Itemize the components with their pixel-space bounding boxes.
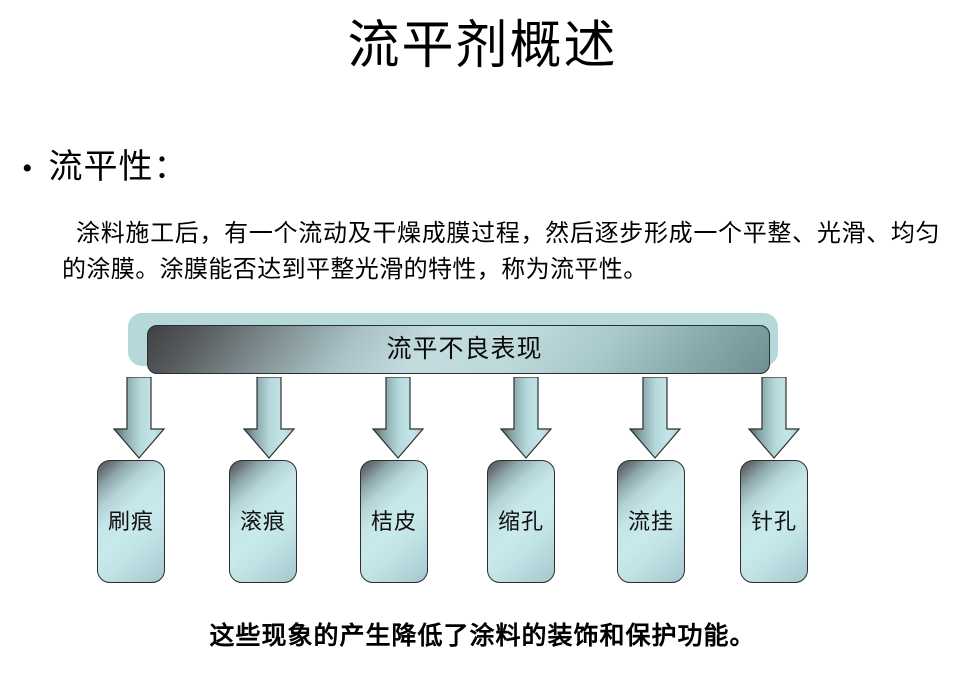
node-label-6: 针孔 — [751, 509, 797, 535]
node-box-4[interactable]: 缩孔 — [487, 460, 555, 583]
banner-box[interactable]: 流平不良表现 — [147, 325, 770, 374]
arrow-down-icon-1 — [113, 377, 165, 459]
node-label-3: 桔皮 — [371, 509, 417, 535]
node-box-2[interactable]: 滚痕 — [229, 460, 297, 583]
bullet-dot-icon: • — [22, 147, 33, 191]
arrow-down-icon-2 — [243, 377, 295, 459]
arrow-down-icon-6 — [748, 377, 800, 459]
arrow-down-icon-3 — [372, 377, 424, 459]
node-label-5: 流挂 — [628, 509, 674, 535]
node-box-5[interactable]: 流挂 — [617, 460, 685, 583]
node-label-1: 刷痕 — [108, 509, 154, 535]
node-box-6[interactable]: 针孔 — [740, 460, 808, 583]
arrow-down-icon-5 — [629, 377, 681, 459]
footer-note: 这些现象的产生降低了涂料的装饰和保护功能。 — [0, 620, 965, 654]
body-paragraph: 涂料施工后，有一个流动及干燥成膜过程，然后逐步形成一个平整、光滑、均匀的涂膜。涂… — [62, 216, 940, 288]
banner-label: 流平不良表现 — [386, 335, 542, 365]
page-title: 流平剂概述 — [0, 16, 965, 78]
node-box-1[interactable]: 刷痕 — [97, 460, 165, 583]
node-box-3[interactable]: 桔皮 — [360, 460, 428, 583]
bullet-heading-label: 流平性： — [49, 146, 189, 190]
flow-diagram: 流平不良表现 — [0, 0, 965, 699]
arrow-down-icon-4 — [500, 377, 552, 459]
node-label-2: 滚痕 — [240, 509, 286, 535]
bullet-heading: • 流平性： — [22, 146, 189, 191]
node-label-4: 缩孔 — [498, 509, 544, 535]
